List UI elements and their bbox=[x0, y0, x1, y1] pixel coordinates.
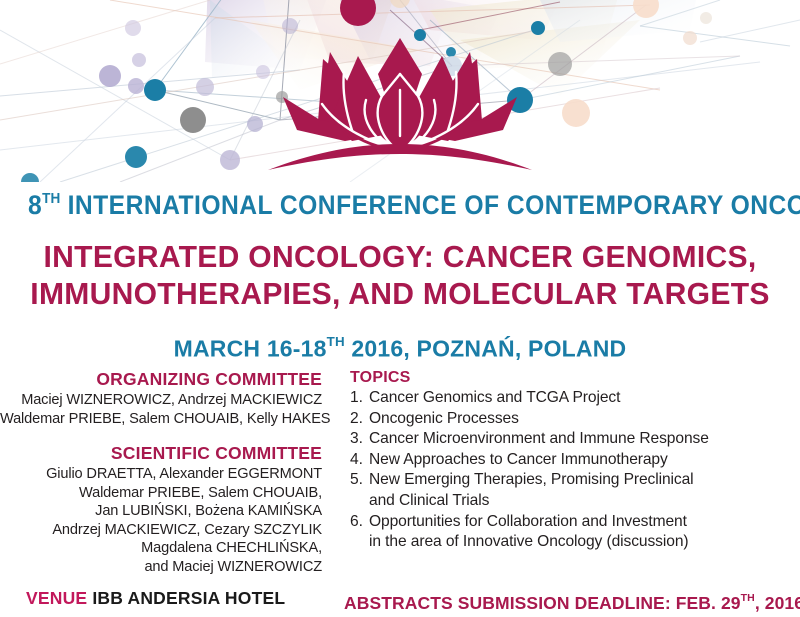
committees-column: ORGANIZING COMMITTEE Maciej WIZNEROWICZ,… bbox=[0, 368, 322, 576]
node-peach bbox=[562, 99, 590, 127]
date-ordinal-suffix: TH bbox=[327, 334, 345, 349]
node-purple bbox=[256, 65, 270, 79]
node-teal bbox=[531, 21, 545, 35]
topic-text: and Clinical Trials bbox=[369, 491, 800, 512]
topic-number: 6. bbox=[350, 512, 369, 533]
topic-text: New Emerging Therapies, Promising Precli… bbox=[369, 470, 800, 491]
topic-text: in the area of Innovative Oncology (disc… bbox=[369, 532, 800, 553]
scientific-committee-member-line: Waldemar PRIEBE, Salem CHOUAIB, bbox=[0, 484, 322, 503]
venue-name: IBB ANDERSIA HOTEL bbox=[92, 588, 285, 608]
node-purple bbox=[282, 18, 298, 34]
node-gray bbox=[180, 107, 206, 133]
scientific-committee-member-line: Magdalena CHECHLIŃSKA, bbox=[0, 539, 322, 558]
conference-poster: 8TH INTERNATIONAL CONFERENCE OF CONTEMPO… bbox=[0, 0, 800, 617]
topic-text: Opportunities for Collaboration and Inve… bbox=[369, 512, 800, 533]
node-purple bbox=[125, 20, 141, 36]
topic-number-spacer bbox=[350, 491, 369, 512]
scientific-committee-member-line: Giulio DRAETTA, Alexander EGGERMONT bbox=[0, 465, 322, 484]
topic-text: Cancer Microenvironment and Immune Respo… bbox=[369, 429, 800, 450]
node-teal bbox=[125, 146, 147, 168]
venue-block: VENUE IBB ANDERSIA HOTEL bbox=[26, 586, 285, 610]
body-columns: ORGANIZING COMMITTEE Maciej WIZNEROWICZ,… bbox=[0, 368, 800, 580]
organizing-committee-member-line: Maciej WIZNEROWICZ, Andrzej MACKIEWICZ bbox=[0, 391, 322, 410]
scientific-committee-block: SCIENTIFIC COMMITTEE Giulio DRAETTA, Ale… bbox=[0, 442, 322, 576]
topic-list-item: 2. Oncogenic Processes bbox=[350, 409, 800, 430]
organizing-committee-heading: ORGANIZING COMMITTEE bbox=[0, 368, 322, 390]
node-purple bbox=[196, 78, 214, 96]
topic-text: Cancer Genomics and TCGA Project bbox=[369, 388, 800, 409]
node-peach bbox=[683, 31, 697, 45]
topic-text: New Approaches to Cancer Immunotherapy bbox=[369, 450, 800, 471]
main-title-line-1: INTEGRATED ONCOLOGY: CANCER GENOMICS, bbox=[12, 238, 788, 275]
conference-title-line: 8TH INTERNATIONAL CONFERENCE OF CONTEMPO… bbox=[28, 182, 772, 222]
scientific-committee-member-line: Jan LUBIŃSKI, Bożena KAMIŃSKA bbox=[0, 502, 322, 521]
conference-title-rest: INTERNATIONAL CONFERENCE OF CONTEMPORARY… bbox=[68, 190, 800, 220]
headline-block: 8TH INTERNATIONAL CONFERENCE OF CONTEMPO… bbox=[0, 182, 800, 363]
organizing-committee-block: ORGANIZING COMMITTEE Maciej WIZNEROWICZ,… bbox=[0, 368, 322, 428]
committee-spacer bbox=[0, 428, 322, 442]
poster-footer: VENUE IBB ANDERSIA HOTEL ABSTRACTS SUBMI… bbox=[0, 586, 800, 617]
deadline-prefix: ABSTRACTS SUBMISSION DEADLINE: FEB. 29 bbox=[344, 593, 741, 613]
topic-list-item: 1. Cancer Genomics and TCGA Project bbox=[350, 388, 800, 409]
deadline-ordinal-suffix: TH bbox=[741, 592, 755, 604]
topic-number: 3. bbox=[350, 429, 369, 450]
topic-number: 1. bbox=[350, 388, 369, 409]
node-purple bbox=[128, 78, 144, 94]
date-rest: 2016, POZNAŃ, POLAND bbox=[345, 335, 627, 361]
conference-ordinal-suffix: TH bbox=[42, 191, 60, 207]
node-teal bbox=[414, 29, 426, 41]
topic-number-spacer bbox=[350, 532, 369, 553]
node-purple bbox=[99, 65, 121, 87]
node-teal bbox=[144, 79, 166, 101]
topics-column: TOPICS 1. Cancer Genomics and TCGA Proje… bbox=[350, 368, 800, 553]
conference-ordinal-number: 8 bbox=[28, 190, 42, 220]
deadline-rest: , 2016 bbox=[755, 593, 800, 613]
venue-label: VENUE bbox=[26, 588, 87, 608]
node-teal bbox=[446, 47, 456, 57]
scientific-committee-member-line: and Maciej WIZNEROWICZ bbox=[0, 558, 322, 577]
node-gray bbox=[548, 52, 572, 76]
date-location-line: MARCH 16-18TH 2016, POZNAŃ, POLAND bbox=[0, 327, 800, 363]
topic-list-item-continuation: and Clinical Trials bbox=[350, 491, 800, 512]
topics-heading: TOPICS bbox=[350, 368, 800, 388]
banner-graphic bbox=[0, 0, 800, 182]
scientific-committee-heading: SCIENTIFIC COMMITTEE bbox=[0, 442, 322, 464]
topic-list-item: 6. Opportunities for Collaboration and I… bbox=[350, 512, 800, 533]
node-purple bbox=[220, 150, 240, 170]
topic-number: 2. bbox=[350, 409, 369, 430]
organizing-committee-member-line: Waldemar PRIEBE, Salem CHOUAIB, Kelly HA… bbox=[0, 410, 322, 429]
node-purple bbox=[247, 116, 263, 132]
main-title: INTEGRATED ONCOLOGY: CANCER GENOMICS, IM… bbox=[0, 238, 800, 312]
date-prefix: MARCH 16-18 bbox=[174, 335, 327, 361]
topic-number: 5. bbox=[350, 470, 369, 491]
main-title-line-2: IMMUNOTHERAPIES, AND MOLECULAR TARGETS bbox=[12, 275, 788, 312]
topic-list-item-continuation: in the area of Innovative Oncology (disc… bbox=[350, 532, 800, 553]
topic-list-item: 3. Cancer Microenvironment and Immune Re… bbox=[350, 429, 800, 450]
node-purple bbox=[132, 53, 146, 67]
topic-number: 4. bbox=[350, 450, 369, 471]
scientific-committee-member-line: Andrzej MACKIEWICZ, Cezary SZCZYLIK bbox=[0, 521, 322, 540]
network-background-illustration bbox=[0, 0, 800, 182]
topic-list-item: 5. New Emerging Therapies, Promising Pre… bbox=[350, 470, 800, 491]
node-peach bbox=[700, 12, 712, 24]
topic-text: Oncogenic Processes bbox=[369, 409, 800, 430]
abstracts-deadline: ABSTRACTS SUBMISSION DEADLINE: FEB. 29TH… bbox=[344, 586, 800, 615]
topic-list-item: 4. New Approaches to Cancer Immunotherap… bbox=[350, 450, 800, 471]
